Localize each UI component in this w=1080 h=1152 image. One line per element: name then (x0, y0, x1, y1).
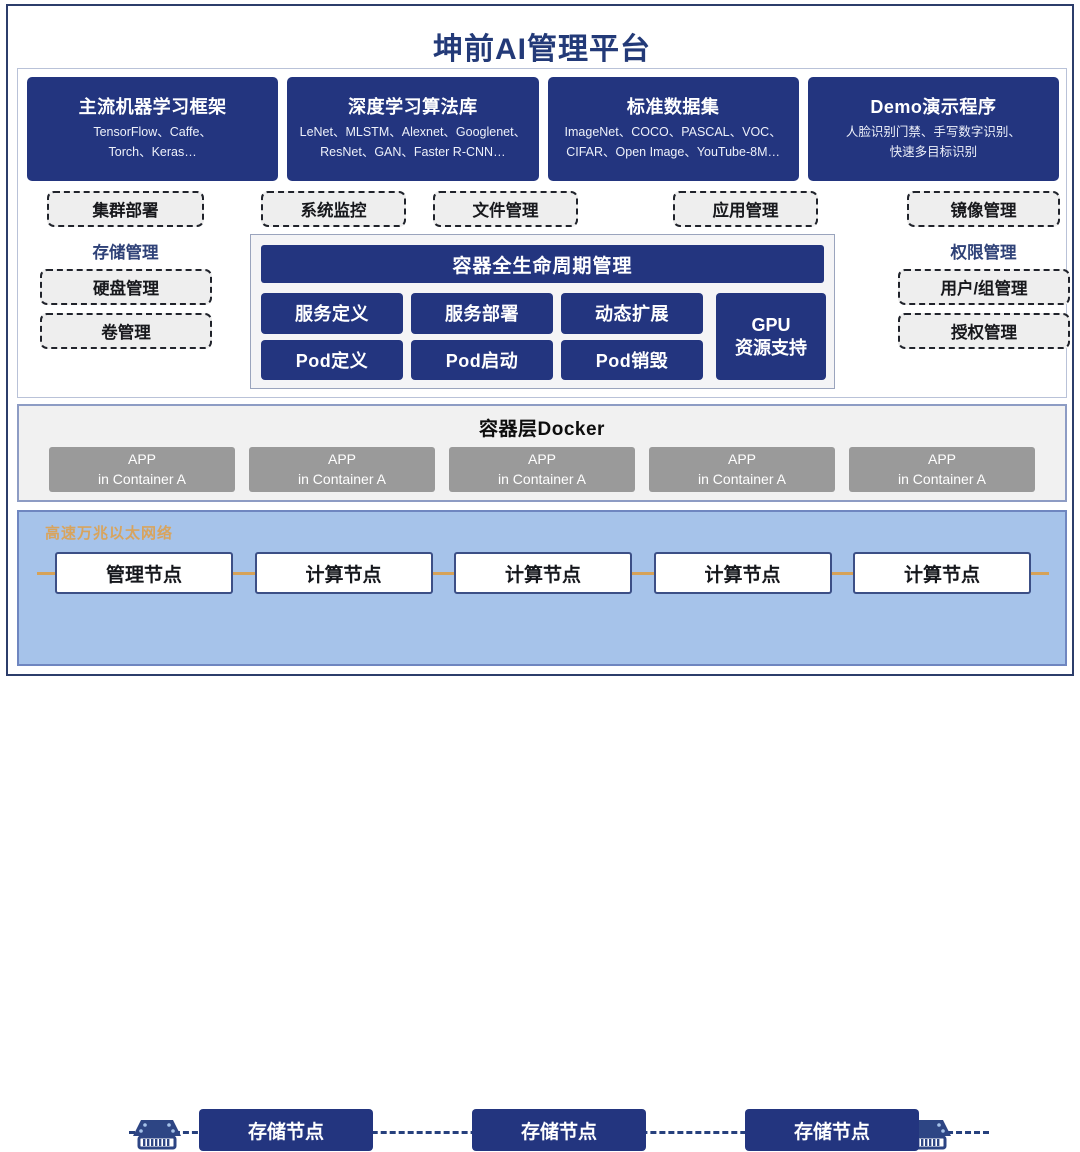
app-label: APP (328, 450, 356, 470)
app-container-name: in Container A (298, 470, 386, 490)
top-panel-row: 主流机器学习框架 TensorFlow、Caffe、 Torch、Keras… … (27, 77, 1059, 181)
app-container-box[interactable]: APP in Container A (849, 447, 1035, 492)
label-permission-management: 权限管理 (907, 239, 1060, 263)
button-file-management[interactable]: 文件管理 (433, 191, 578, 227)
panel-demo-programs[interactable]: Demo演示程序 人脸识别门禁、手写数字识别、 快速多目标识别 (808, 77, 1059, 181)
node-storage[interactable]: 存储节点 (199, 1109, 373, 1151)
node-storage[interactable]: 存储节点 (745, 1109, 919, 1151)
label-high-speed-ethernet: 高速万兆以太网络 (45, 522, 173, 543)
app-label: APP (728, 450, 756, 470)
app-label: APP (128, 450, 156, 470)
docker-layer-title: 容器层Docker (19, 414, 1065, 441)
app-label: APP (928, 450, 956, 470)
network-node-row: 管理节点 计算节点 计算节点 计算节点 计算节点 (55, 552, 1031, 594)
button-service-deploy[interactable]: 服务部署 (411, 293, 553, 334)
button-image-management[interactable]: 镜像管理 (907, 191, 1060, 227)
node-compute[interactable]: 计算节点 (454, 552, 632, 594)
panel-title: 标准数据集 (627, 96, 720, 119)
network-layer-section: 高速万兆以太网络 管理节点 计算节点 计算节点 计算节点 计算节点 (17, 510, 1067, 666)
panel-title: 主流机器学习框架 (79, 96, 227, 119)
node-storage[interactable]: 存储节点 (472, 1109, 646, 1151)
panel-dl-algorithms[interactable]: 深度学习算法库 LeNet、MLSTM、Alexnet、Googlenet、 R… (287, 77, 538, 181)
panel-subtitle: LeNet、MLSTM、Alexnet、Googlenet、 ResNet、GA… (300, 123, 526, 162)
node-management[interactable]: 管理节点 (55, 552, 233, 594)
app-container-box[interactable]: APP in Container A (249, 447, 435, 492)
outer-frame: 坤前AI管理平台 主流机器学习框架 TensorFlow、Caffe、 Torc… (6, 4, 1074, 676)
button-pod-destroy[interactable]: Pod销毁 (561, 340, 703, 381)
container-lifecycle-header: 容器全生命周期管理 (261, 245, 824, 283)
app-container-box[interactable]: APP in Container A (649, 447, 835, 492)
button-volume-management[interactable]: 卷管理 (40, 313, 212, 349)
gpu-label-line1: GPU (751, 314, 790, 337)
button-dynamic-scaling[interactable]: 动态扩展 (561, 293, 703, 334)
node-compute[interactable]: 计算节点 (853, 552, 1031, 594)
app-container-name: in Container A (698, 470, 786, 490)
label-storage-management: 存储管理 (47, 239, 204, 263)
docker-layer-section: 容器层Docker APP in Container A APP in Cont… (17, 404, 1067, 502)
architecture-diagram: 坤前AI管理平台 主流机器学习框架 TensorFlow、Caffe、 Torc… (0, 0, 1080, 680)
platform-upper-section: 主流机器学习框架 TensorFlow、Caffe、 Torch、Keras… … (17, 68, 1067, 398)
button-disk-management[interactable]: 硬盘管理 (40, 269, 212, 305)
button-system-monitor[interactable]: 系统监控 (261, 191, 406, 227)
app-container-name: in Container A (498, 470, 586, 490)
app-container-name: in Container A (98, 470, 186, 490)
button-cluster-deploy[interactable]: 集群部署 (47, 191, 204, 227)
panel-subtitle: ImageNet、COCO、PASCAL、VOC、 CIFAR、Open Ima… (565, 123, 782, 162)
button-application-management[interactable]: 应用管理 (673, 191, 818, 227)
network-switch-icon (127, 1112, 187, 1152)
panel-subtitle: 人脸识别门禁、手写数字识别、 快速多目标识别 (846, 123, 1021, 162)
container-lifecycle-body: 服务定义 服务部署 动态扩展 Pod定义 Pod启动 Pod销毁 GPU 资源支… (261, 293, 826, 380)
button-pod-define[interactable]: Pod定义 (261, 340, 403, 381)
panel-subtitle: TensorFlow、Caffe、 Torch、Keras… (93, 123, 212, 162)
app-container-box[interactable]: APP in Container A (49, 447, 235, 492)
app-label: APP (528, 450, 556, 470)
button-service-define[interactable]: 服务定义 (261, 293, 403, 334)
button-pod-start[interactable]: Pod启动 (411, 340, 553, 381)
panel-title: Demo演示程序 (870, 96, 996, 119)
panel-ml-frameworks[interactable]: 主流机器学习框架 TensorFlow、Caffe、 Torch、Keras… (27, 77, 278, 181)
panel-title: 深度学习算法库 (348, 96, 478, 119)
docker-app-row: APP in Container A APP in Container A AP… (49, 447, 1035, 492)
button-user-group-management[interactable]: 用户/组管理 (898, 269, 1070, 305)
container-lifecycle-grid: 服务定义 服务部署 动态扩展 Pod定义 Pod启动 Pod销毁 (261, 293, 703, 380)
panel-standard-datasets[interactable]: 标准数据集 ImageNet、COCO、PASCAL、VOC、 CIFAR、Op… (548, 77, 799, 181)
container-lifecycle-card: 容器全生命周期管理 服务定义 服务部署 动态扩展 Pod定义 Pod启动 Pod… (250, 234, 835, 389)
node-compute[interactable]: 计算节点 (255, 552, 433, 594)
node-compute[interactable]: 计算节点 (654, 552, 832, 594)
button-gpu-resource-support[interactable]: GPU 资源支持 (716, 293, 826, 380)
gpu-label-line2: 资源支持 (735, 337, 807, 360)
storage-node-row: 存储节点 存储节点 存储节点 (199, 1109, 919, 1151)
app-container-box[interactable]: APP in Container A (449, 447, 635, 492)
page-title: 坤前AI管理平台 (8, 24, 1076, 68)
button-authorization-management[interactable]: 授权管理 (898, 313, 1070, 349)
app-container-name: in Container A (898, 470, 986, 490)
